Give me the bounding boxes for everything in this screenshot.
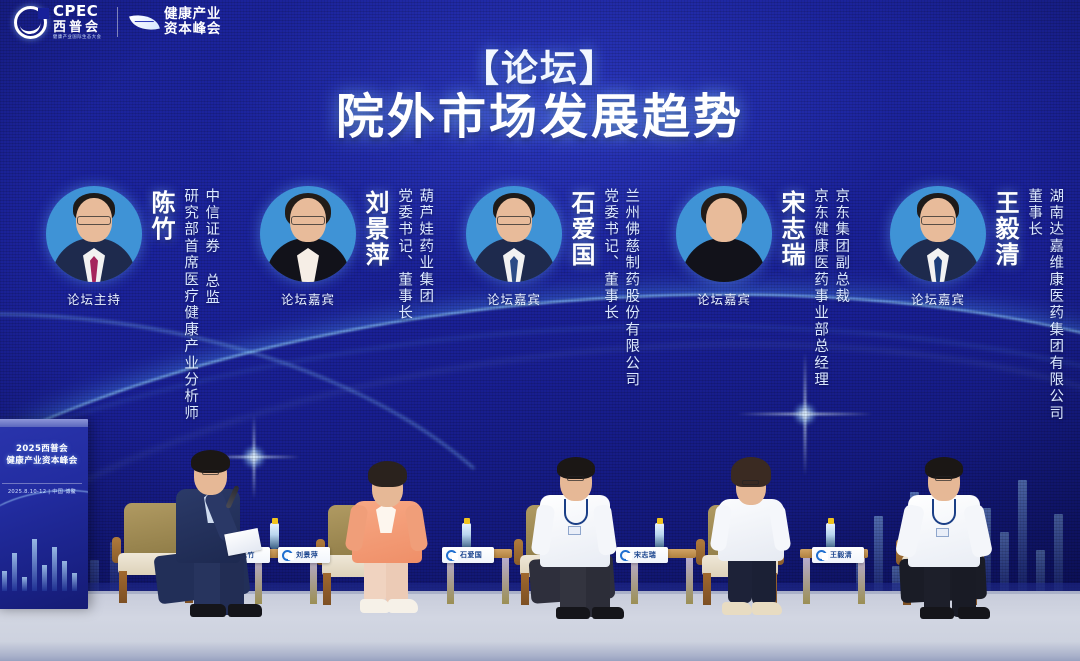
- cpec-small-icon: [816, 550, 827, 561]
- panelist-card: 论坛嘉宾 石爱国 兰州佛慈制药股份有限公司 党委书记、董事长: [462, 186, 640, 388]
- panelist-title-line: 中信证券 总监: [202, 188, 220, 422]
- panelist-card: 论坛嘉宾 王毅清 湖南达嘉维康医药集团有限公司 董事长: [886, 186, 1064, 422]
- forum-title-bracket: 【论坛】: [0, 48, 1080, 89]
- conference-stage-photo: CPEC 西普会 健康产业国际生态大会 健康产业 资本峰会 【论坛】 院外市场发…: [0, 0, 1080, 661]
- panelist-card: 论坛嘉宾 宋志瑞 京东集团副总裁 京东健康医药事业部总经理: [672, 186, 850, 388]
- panelist-title-line: 兰州佛慈制药股份有限公司: [622, 188, 640, 388]
- panelist-avatar: [466, 186, 562, 282]
- person-panelist-4: [700, 437, 810, 617]
- health-logo-line1: 健康产业: [164, 7, 221, 22]
- panelist-titles: 葫芦娃药业集团 党委书记、董事长: [392, 188, 434, 322]
- panelist-title-line: 研究部首席医疗健康产业分析师: [181, 188, 199, 422]
- water-bottle: [826, 523, 835, 549]
- forum-title-main: 院外市场发展趋势: [0, 90, 1080, 146]
- panelist-card: 论坛主持 陈竹 中信证券 总监 研究部首席医疗健康产业分析师: [42, 186, 220, 422]
- panelist-role: 论坛嘉宾: [487, 289, 541, 308]
- panelist-avatar: [890, 186, 986, 282]
- panelist-role: 论坛主持: [67, 289, 121, 308]
- podium-bar-graphic: [0, 525, 84, 591]
- nameplate-name: 石爱国: [460, 550, 482, 560]
- panelist-name: 石爱国: [569, 190, 593, 268]
- cpec-logo-en: CPEC: [53, 4, 104, 19]
- cpec-logo: CPEC 西普会 健康产业国际生态大会: [14, 4, 104, 41]
- panelist-title-line: 董事长: [1025, 188, 1043, 422]
- panelist-name: 刘景萍: [363, 190, 387, 268]
- podium-title: 2025西普会 健康产业资本峰会: [0, 443, 88, 468]
- person-moderator: [150, 425, 270, 615]
- person-panelist-3: [520, 437, 640, 617]
- panelist-title-line: 京东健康医药事业部总经理: [811, 188, 829, 388]
- forum-title: 【论坛】 院外市场发展趋势: [0, 48, 1080, 146]
- header-logos: CPEC 西普会 健康产业国际生态大会 健康产业 资本峰会: [14, 4, 221, 41]
- water-bottle: [270, 523, 279, 549]
- logo-divider: [117, 7, 118, 37]
- panelist-role: 论坛嘉宾: [281, 289, 335, 308]
- cpec-small-icon: [446, 550, 457, 561]
- water-bottle: [655, 523, 664, 549]
- podium-top-surface: [0, 419, 88, 427]
- person-panelist-2: [336, 437, 446, 617]
- person-panelist-5: [886, 437, 1012, 617]
- panelist-role: 论坛嘉宾: [911, 289, 965, 308]
- panelist-role: 论坛嘉宾: [697, 289, 751, 308]
- panelist-title-line: 葫芦娃药业集团: [416, 188, 434, 322]
- nameplate-name: 刘景萍: [296, 550, 318, 560]
- nameplate: 刘景萍: [278, 547, 330, 563]
- panelist-card: 论坛嘉宾 刘景萍 葫芦娃药业集团 党委书记、董事长: [256, 186, 434, 322]
- panelist-title-line: 党委书记、董事长: [601, 188, 619, 388]
- panelist-name: 王毅清: [993, 190, 1017, 268]
- water-bottle: [462, 523, 471, 549]
- cpec-circle-icon: [14, 6, 47, 39]
- panelist-titles: 湖南达嘉维康医药集团有限公司 董事长: [1022, 188, 1064, 422]
- podium-title-line1: 2025西普会: [0, 443, 88, 455]
- nameplate: 王毅清: [812, 547, 864, 563]
- nameplate-name: 王毅清: [830, 550, 852, 560]
- panelist-title-line: 湖南达嘉维康医药集团有限公司: [1046, 188, 1064, 422]
- podium: 2025西普会 健康产业资本峰会 2025.8.10-12 | 中国·博鳌: [0, 419, 88, 609]
- podium-title-line2: 健康产业资本峰会: [0, 455, 88, 467]
- panelist-titles: 兰州佛慈制药股份有限公司 党委书记、董事长: [598, 188, 640, 388]
- starburst-glow: [803, 412, 807, 416]
- panelist-avatar: [46, 186, 142, 282]
- panelist-name: 陈竹: [149, 190, 173, 242]
- panelist-avatar: [676, 186, 772, 282]
- panelist-titles: 中信证券 总监 研究部首席医疗健康产业分析师: [178, 188, 220, 422]
- panelist-titles: 京东集团副总裁 京东健康医药事业部总经理: [808, 188, 850, 388]
- health-capital-summit-logo: 健康产业 资本峰会: [131, 7, 221, 37]
- cpec-logo-cn: 西普会: [53, 21, 104, 34]
- leaf-icon: [129, 10, 160, 35]
- panelist-title-line: 党委书记、董事长: [395, 188, 413, 322]
- cpec-logo-tagline: 健康产业国际生态大会: [53, 36, 101, 40]
- cpec-small-icon: [282, 550, 293, 561]
- panelist-title-line: 京东集团副总裁: [832, 188, 850, 388]
- panelist-name: 宋志瑞: [779, 190, 803, 268]
- health-logo-line2: 资本峰会: [164, 22, 221, 37]
- panelist-avatar: [260, 186, 356, 282]
- nameplate: 石爱国: [442, 547, 494, 563]
